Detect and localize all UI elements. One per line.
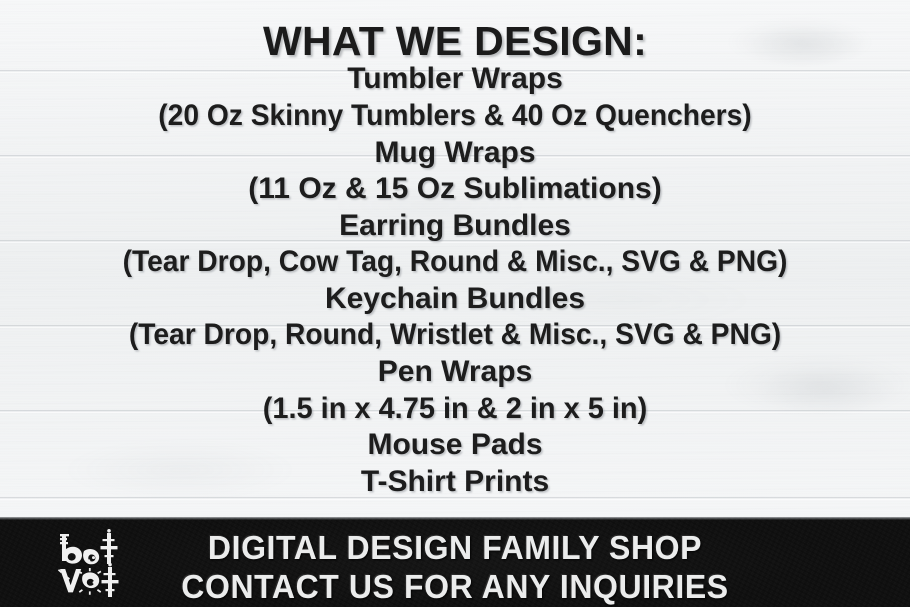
service-line-tshirt-prints: T-Shirt Prints: [0, 467, 910, 497]
service-line-keychain-bundles: Keychain Bundles: [0, 284, 910, 314]
service-detail-earring-types: (Tear Drop, Cow Tag, Round & Misc., SVG …: [27, 247, 882, 277]
page-title: WHAT WE DESIGN:: [0, 21, 910, 62]
service-detail-mug-sizes: (11 Oz & 15 Oz Sublimations): [0, 174, 910, 204]
service-line-pen-wraps: Pen Wraps: [0, 357, 910, 387]
service-line-tumbler-wraps: Tumbler Wraps: [0, 64, 910, 94]
service-line-mouse-pads: Mouse Pads: [0, 430, 910, 460]
poster-canvas: WHAT WE DESIGN: Tumbler Wraps (20 Oz Ski…: [0, 0, 910, 607]
service-line-earring-bundles: Earring Bundles: [0, 211, 910, 241]
footer-contact-text: CONTACT US FOR ANY INQUIRIES: [14, 570, 897, 603]
service-detail-tumbler-sizes: (20 Oz Skinny Tumblers & 40 Oz Quenchers…: [27, 101, 882, 131]
service-detail-keychain-types: (Tear Drop, Round, Wristlet & Misc., SVG…: [27, 320, 882, 350]
service-line-mug-wraps: Mug Wraps: [0, 138, 910, 168]
footer-shop-name: DIGITAL DESIGN FAMILY SHOP: [14, 531, 897, 564]
footer-bar: DIGITAL DESIGN FAMILY SHOP CONTACT US FO…: [0, 517, 910, 607]
service-detail-pen-sizes: (1.5 in x 4.75 in & 2 in x 5 in): [16, 394, 894, 424]
